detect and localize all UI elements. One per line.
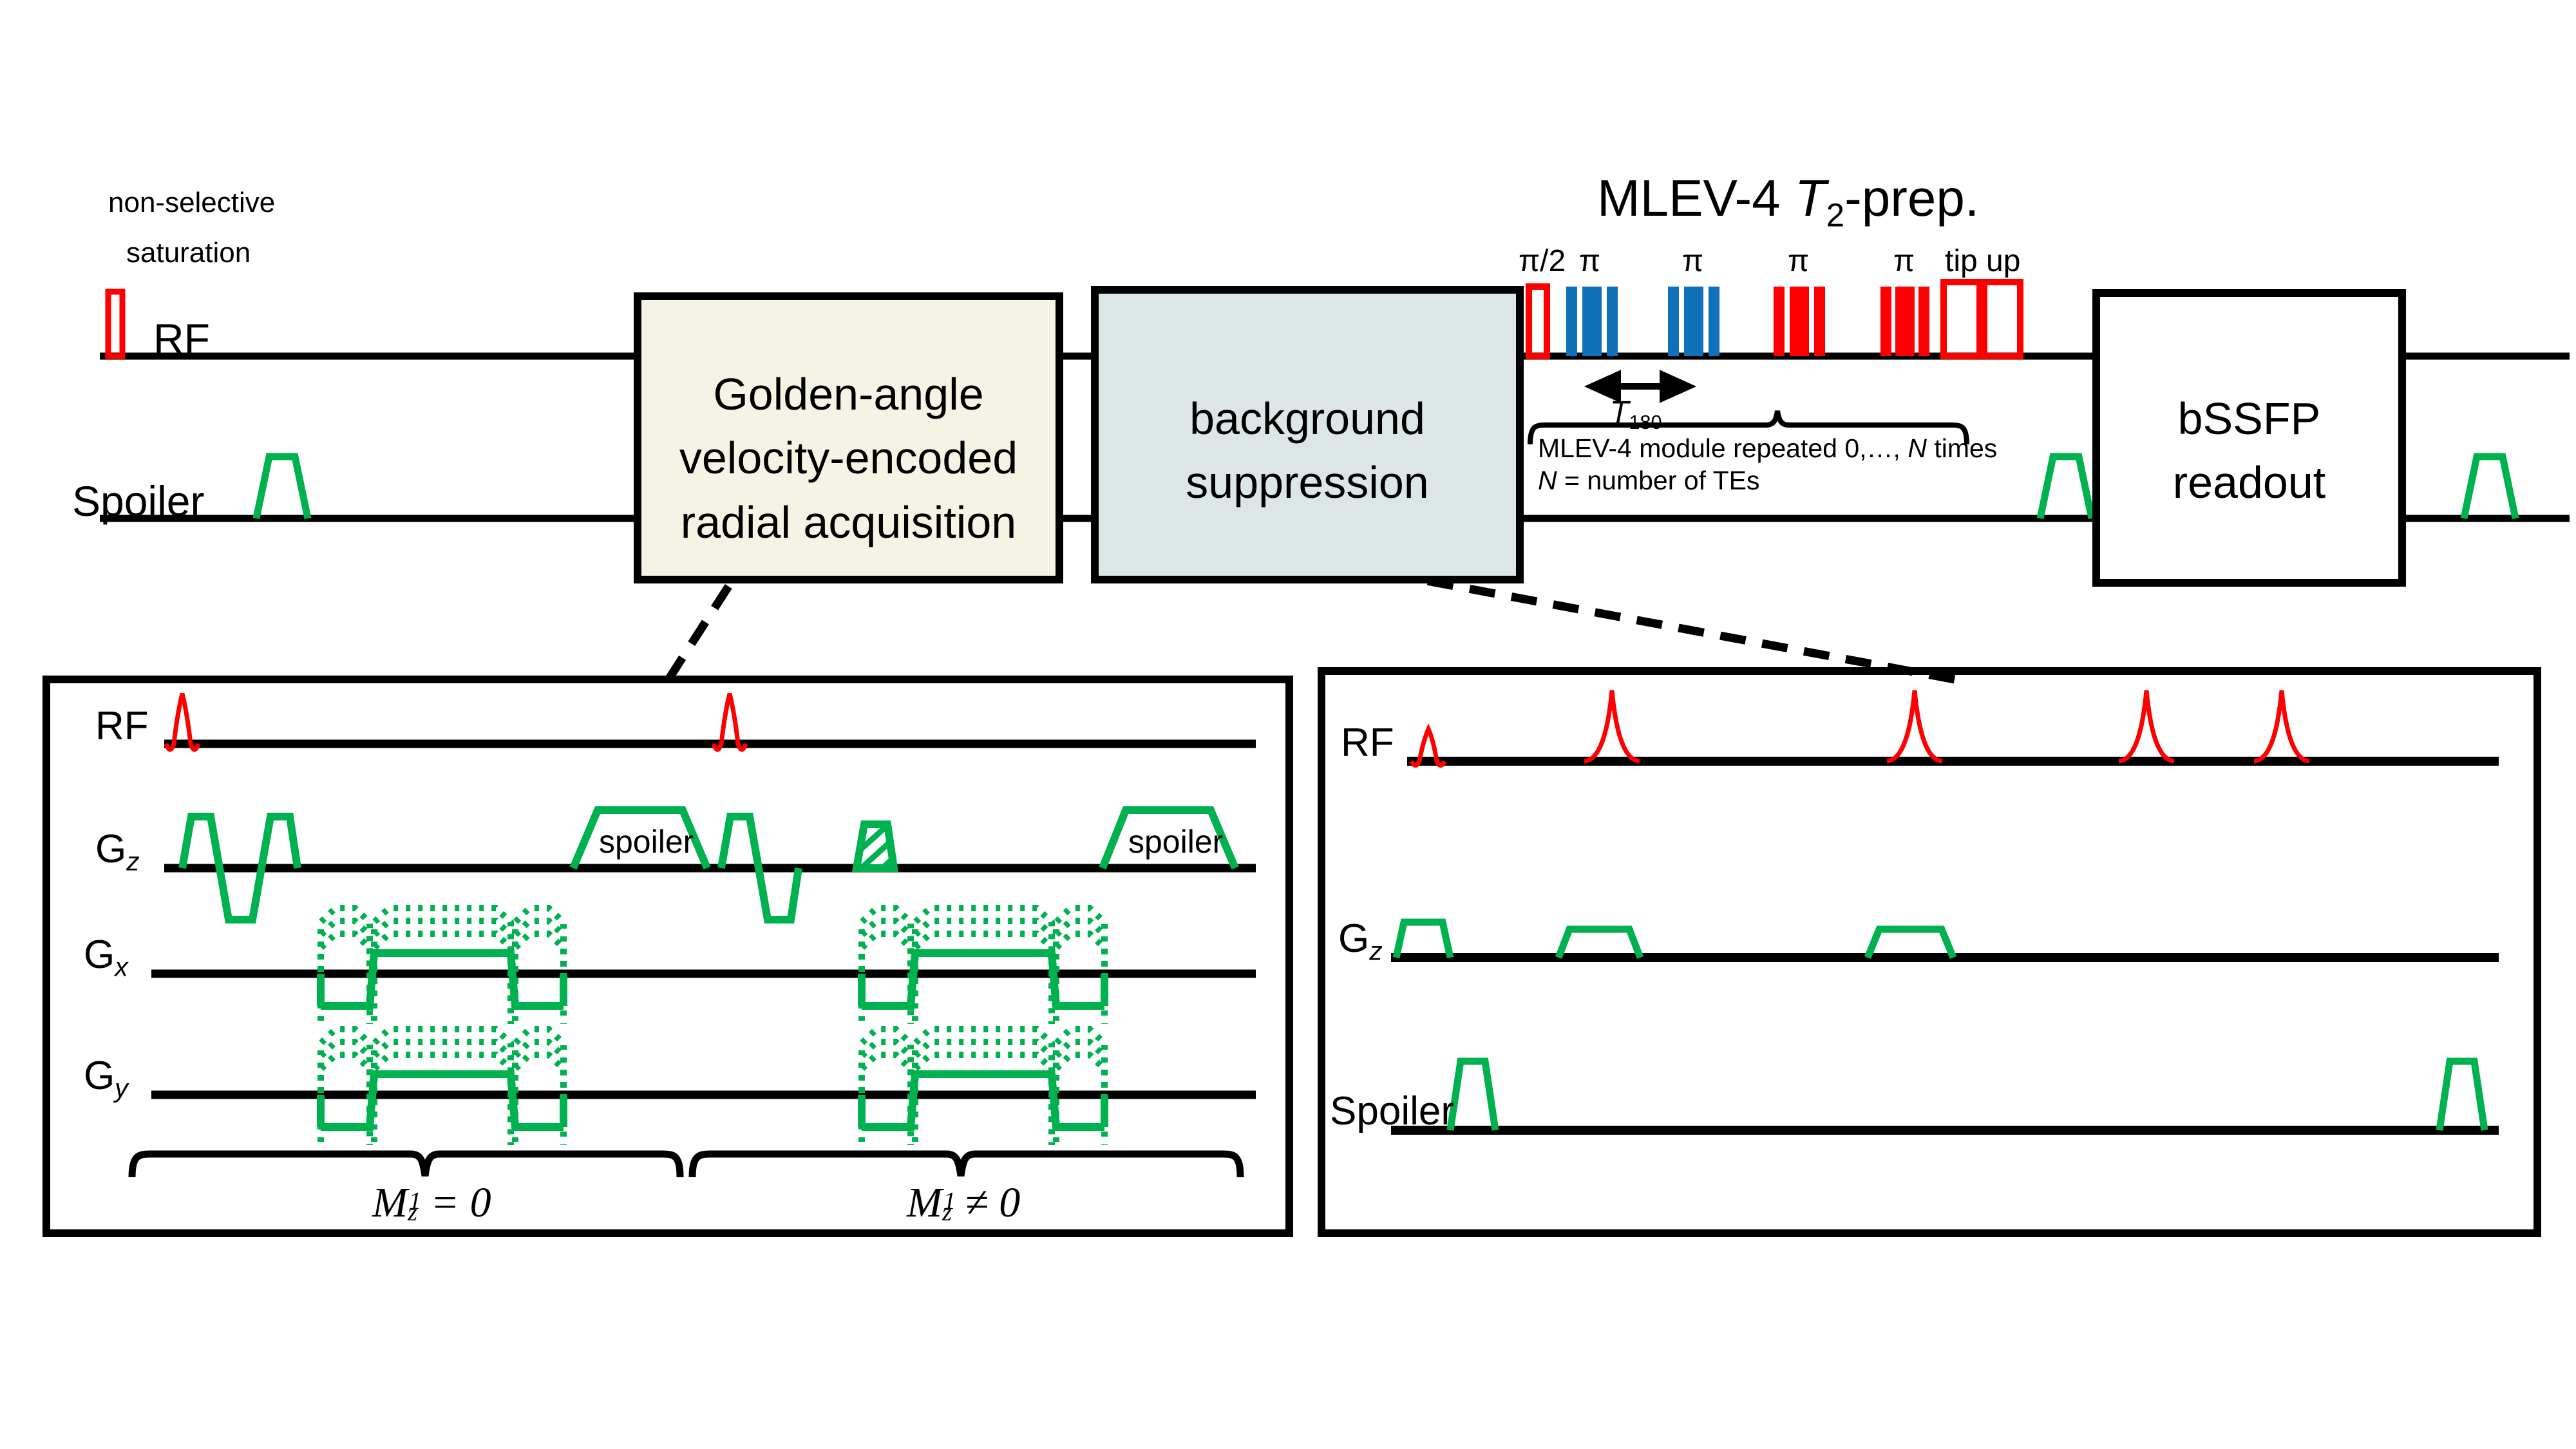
gz-hatched-trapezoid xyxy=(857,824,894,868)
mlev-note-N: N xyxy=(1908,433,1927,463)
box-line-1: bSSFP xyxy=(2096,387,2402,451)
mlev-note2-N: N xyxy=(1538,466,1557,495)
diagram-canvas xyxy=(0,0,2576,1449)
left-panel-label-gz: Gz xyxy=(95,826,140,876)
g-letter: G xyxy=(84,1054,115,1098)
g-letter: G xyxy=(84,933,115,977)
mlev-note-line-1: MLEV-4 module repeated 0,…, N times xyxy=(1538,433,1997,464)
mlev-note-b: times xyxy=(1927,433,1997,463)
rf-pulse-saturation xyxy=(108,292,122,356)
spoiler-trapezoid-1 xyxy=(256,457,308,518)
left-panel-gz-track xyxy=(164,810,1256,920)
left-panel-label-gy: Gy xyxy=(84,1053,128,1103)
gz-spoiler-text-1: spoiler xyxy=(599,823,694,860)
right-panel-rf-track xyxy=(1407,690,2499,766)
moment-label-1: M 1 z = 0 xyxy=(372,1179,491,1227)
right-panel-label-spoiler: Spoiler xyxy=(1330,1088,1454,1134)
annotation-nonselective-saturation-line2: saturation xyxy=(126,237,251,269)
mlev-note2-b: = number of TEs xyxy=(1557,466,1760,495)
g-letter: G xyxy=(1338,916,1369,961)
spoiler-trapezoid-2 xyxy=(2040,457,2092,518)
gy-bipolar-group-2 xyxy=(862,1029,1104,1145)
bgs-spoiler-trapezoid-1 xyxy=(1450,1061,1495,1130)
g-letter: G xyxy=(95,827,126,871)
left-panel-label-rf: RF xyxy=(95,703,149,749)
title-suffix: -prep. xyxy=(1844,169,1979,227)
right-panel-label-gz: Gz xyxy=(1338,916,1383,966)
pulse-label-pi-1: π xyxy=(1579,243,1600,279)
rf-pulse-group-pi-2 xyxy=(1668,287,1719,356)
box-label-bssfp-readout[interactable]: bSSFP readout xyxy=(2096,387,2402,515)
connector-dashed-right xyxy=(1420,580,1955,679)
rf-gaussian-pulse-3 xyxy=(2119,690,2174,761)
rf-pulse-tip-up-2 xyxy=(1984,282,2020,356)
top-rf-channel-label: RF xyxy=(153,314,210,363)
box-line-1: background xyxy=(1095,387,1520,451)
M-letter: M xyxy=(372,1179,408,1226)
left-panel-rf-track xyxy=(164,694,1256,750)
tau180-T: T xyxy=(1610,395,1629,430)
rf-pulse-tip-up-1 xyxy=(1944,282,1980,356)
box-line-2: readout xyxy=(2096,451,2402,515)
title-prefix: MLEV-4 xyxy=(1597,169,1795,227)
pulse-label-pi-4: π xyxy=(1893,243,1915,279)
moment-brace-1 xyxy=(132,1154,680,1177)
right-panel-gz-track xyxy=(1391,922,2499,958)
mlev-note-a: MLEV-4 module repeated 0,…, xyxy=(1538,433,1908,463)
right-panel-label-rf: RF xyxy=(1341,720,1394,766)
mlev-note-line-2: N = number of TEs xyxy=(1538,466,1759,496)
moment-label-2: M 1 z ≠ 0 xyxy=(907,1179,1020,1227)
rf-gaussian-pulse-1 xyxy=(1584,690,1640,761)
tau180-subscript: 180 xyxy=(1629,411,1662,433)
left-panel-gy-track xyxy=(151,1029,1256,1145)
M-letter: M xyxy=(907,1179,942,1226)
box-label-golden-angle-acquisition[interactable]: Golden-angle velocity-encoded radial acq… xyxy=(638,363,1059,554)
annotation-nonselective-saturation-line1: non-selective xyxy=(108,187,275,219)
moment-brace-2 xyxy=(692,1154,1240,1177)
rf-pulse-pi-over-2 xyxy=(1529,287,1547,356)
pulse-label-pi-over-2: π/2 xyxy=(1519,243,1566,279)
pulse-label-tip-up: tip up xyxy=(1945,243,2020,279)
bgs-spoiler-trapezoid-2 xyxy=(2439,1061,2485,1130)
rf-pulse-group-pi-1 xyxy=(1566,287,1618,356)
box-line-2: velocity-encoded xyxy=(638,426,1059,490)
g-subscript: z xyxy=(126,846,139,876)
rf-pulse-group-pi-3 xyxy=(1774,287,1825,356)
g-subscript: z xyxy=(1369,936,1382,965)
box-line-3: radial acquisition xyxy=(638,491,1059,554)
g-subscript: x xyxy=(115,952,128,981)
gz-trapezoid-1 xyxy=(1396,922,1450,958)
box-line-1: Golden-angle xyxy=(638,363,1059,426)
pulse-label-pi-2: π xyxy=(1682,243,1703,279)
spoiler-trapezoid-3 xyxy=(2464,457,2515,518)
gx-bipolar-group-2 xyxy=(862,908,1104,1024)
gy-bipolar-group-1 xyxy=(321,1029,563,1145)
M-relation: = 0 xyxy=(431,1179,491,1226)
title-T: T xyxy=(1795,169,1826,227)
pulse-label-pi-3: π xyxy=(1788,243,1809,279)
left-panel-gx-track xyxy=(151,908,1256,1024)
panel-acquisition-detail xyxy=(46,679,1289,1233)
rf-pulse-group-pi-4 xyxy=(1880,287,1929,356)
top-spoiler-channel-label: Spoiler xyxy=(72,477,204,526)
gx-bipolar-group-1 xyxy=(321,908,563,1024)
tau180-label: T180 xyxy=(1610,395,1662,434)
gz-spoiler-text-2: spoiler xyxy=(1128,823,1223,860)
g-subscript: y xyxy=(115,1073,128,1103)
rf-gaussian-pulse-2 xyxy=(1887,690,1942,761)
left-panel-label-gx: Gx xyxy=(84,932,128,982)
connector-dashed-left xyxy=(668,580,733,679)
title-T-subscript: 2 xyxy=(1826,196,1844,233)
box-line-2: suppression xyxy=(1095,451,1520,515)
page-title: MLEV-4 T2-prep. xyxy=(1597,169,1979,234)
box-label-background-suppression[interactable]: background suppression xyxy=(1095,387,1520,515)
rf-gaussian-pulse-4 xyxy=(2254,690,2309,761)
M-relation: ≠ 0 xyxy=(965,1179,1021,1226)
right-panel-spoiler-track xyxy=(1391,1061,2499,1130)
